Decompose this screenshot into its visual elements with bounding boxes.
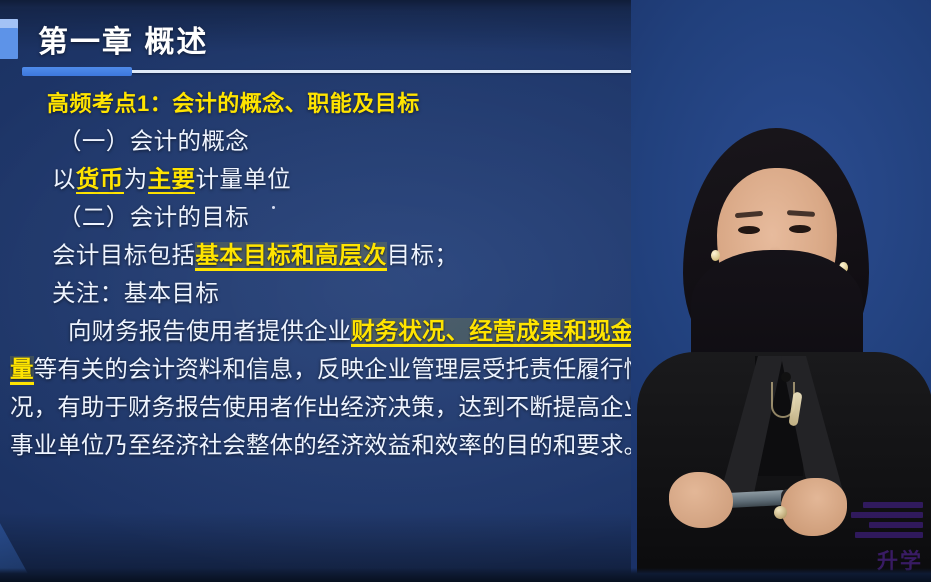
watermark-bars-icon [845,502,923,540]
slide-title-row: 第一章 概述 [0,17,208,61]
text-fragment: 计量单位 [195,166,291,192]
highlight-primary: 主要 [148,166,196,194]
watermark-bar [851,512,923,518]
watermark-bar [869,522,923,528]
body-line-text: 关注：基本目标 [52,280,219,306]
body-line-objective-heading: （二）会计的目标 [10,198,658,236]
section-subtitle: 高频考点1：会计的概念、职能及目标 [47,86,420,118]
page-title: 第一章 概述 [38,17,208,61]
text-fragment: 等有关的会计资料和信息，反映企业管理层受托责任履行情况，有助于财务报告使用者作出… [10,356,647,458]
presenter-eye-left [738,226,760,234]
presenter-hand-right [781,478,847,536]
text-fragment: 为 [124,166,148,192]
letterbox-band-bottom [0,568,931,582]
body-line-currency-unit: 以货币为主要计量单位 [10,160,658,198]
highlight-currency: 货币 [76,166,124,194]
highlight-basic-and-highlevel-objective: 基本目标和高层次 [195,242,386,271]
body-line-objective-types: 会计目标包括基本目标和高层次目标； [10,236,658,274]
text-fragment: 向财务报告使用者提供企业 [68,318,351,344]
title-divider [22,70,636,73]
watermark-logo: 升学 [841,502,925,574]
body-line-text: （二）会计的目标 [58,204,249,230]
watermark-bar [863,502,923,508]
stray-artifact-dot [272,206,275,209]
lecture-slide-frame: 第一章 概述 高频考点1：会计的概念、职能及目标 （一）会计的概念 以货币为主要… [0,0,931,582]
body-paragraph-basic-objective: 向财务报告使用者提供企业财务状况、经营成果和现金流量等有关的会计资料和信息，反映… [10,312,658,464]
body-line-concept-heading: （一）会计的概念 [10,122,658,160]
body-line-focus: 关注：基本目标 [10,274,658,312]
presenter-earring-left [711,250,720,261]
text-fragment: 会计目标包括 [52,242,195,268]
slide-body: （一）会计的概念 以货币为主要计量单位 （二）会计的目标 会计目标包括基本目标和… [10,122,658,464]
presenter-video-region [631,0,931,582]
watermark-bar [855,532,923,538]
presenter-eye-right [789,225,811,233]
presenter-hand-left [669,472,733,528]
text-fragment: 目标； [387,242,459,268]
text-fragment: 以 [52,166,76,192]
presenter-lapel-mic-icon [781,372,791,382]
body-line-text: （一）会计的概念 [58,128,249,154]
presenter-button [774,506,787,519]
paragraph-indent [10,318,68,344]
title-accent-square-icon [0,19,18,59]
